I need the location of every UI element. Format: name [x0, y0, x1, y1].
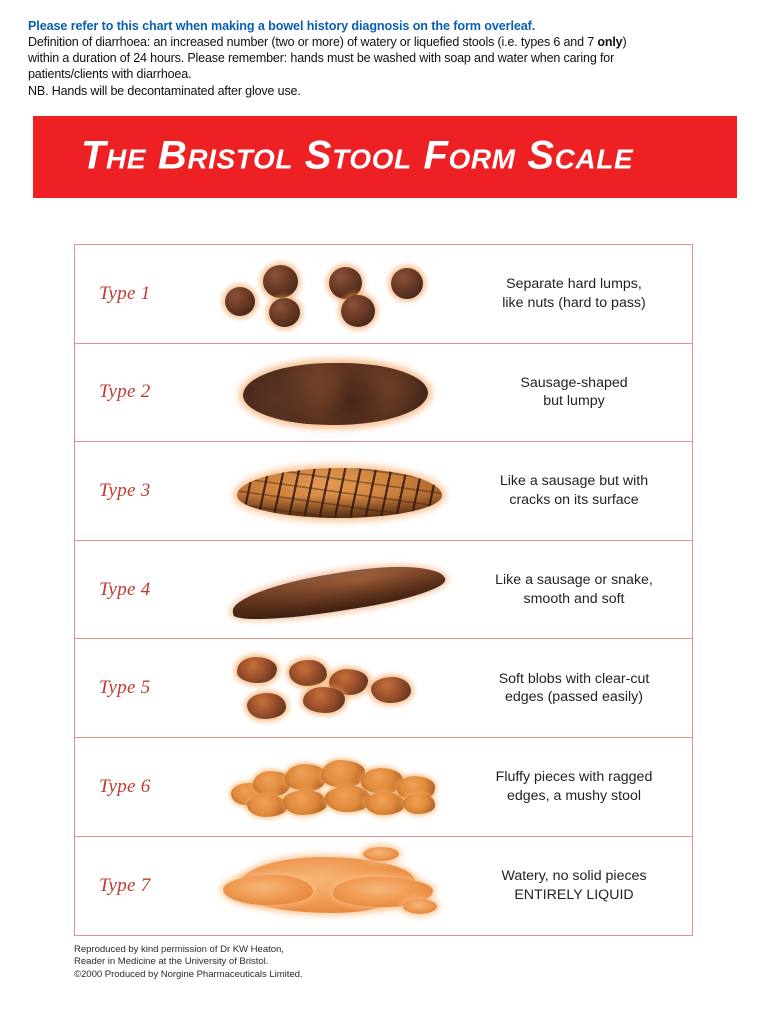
description-cell: Like a sausage but with cracks on its su…: [462, 472, 692, 509]
intro-line1-emphasis: only: [597, 35, 622, 49]
description-cell: Soft blobs with clear-cut edges (passed …: [462, 670, 692, 707]
stool-illustration-type-6: [203, 738, 462, 836]
description-cell: Like a sausage or snake, smooth and soft: [462, 571, 692, 608]
stool-illustration-type-7: [203, 837, 462, 936]
description-line-2: like nuts (hard to pass): [462, 294, 686, 313]
separate-hard-lumps-art: [203, 245, 462, 343]
stool-illustration-type-1: [203, 245, 462, 343]
banner-title-text: The Bristol Stool Form Scale: [81, 134, 633, 179]
stool-illustration-type-5: [203, 639, 462, 737]
table-row: Type 5 Soft blobs with clear-cut edges (…: [75, 639, 692, 738]
credit-line-3: ©2000 Produced by Norgine Pharmaceutical…: [74, 969, 303, 981]
table-row: Type 6 Fluffy pieces with ragged edges, …: [75, 738, 692, 837]
intro-paragraph-line-1: Definition of diarrhoea: an increased nu…: [28, 34, 744, 50]
credit-block: Reproduced by kind permission of Dr KW H…: [74, 944, 303, 981]
cracked-sausage-art: [203, 442, 462, 540]
table-row: Type 4 Like a sausage or snake, smooth a…: [75, 541, 692, 640]
description-cell: Separate hard lumps, like nuts (hard to …: [462, 275, 692, 312]
description-cell: Sausage-shaped but lumpy: [462, 374, 692, 411]
type-label: Type 4: [75, 579, 203, 601]
type-label: Type 7: [75, 875, 203, 897]
title-banner: The Bristol Stool Form Scale: [33, 116, 737, 198]
description-line-1: Watery, no solid pieces: [501, 868, 646, 884]
description-line-2: smooth and soft: [462, 590, 686, 609]
stool-illustration-type-3: [203, 442, 462, 540]
intro-line1-part-b: ): [622, 35, 626, 49]
table-row: Type 7 Watery, no solid pieces ENTIRELY …: [75, 837, 692, 936]
type-label: Type 6: [75, 776, 203, 798]
description-line-2: cracks on its surface: [462, 491, 686, 510]
intro-block: Please refer to this chart when making a…: [28, 18, 744, 99]
description-line-1: Separate hard lumps,: [506, 276, 642, 292]
description-line-2: ENTIRELY LIQUID: [462, 886, 686, 905]
smooth-snake-art: [203, 541, 462, 639]
intro-paragraph-line-3: patients/clients with diarrhoea.: [28, 66, 744, 82]
credit-line-1: Reproduced by kind permission of Dr KW H…: [74, 944, 303, 956]
description-line-1: Like a sausage or snake,: [495, 572, 653, 588]
type-label: Type 2: [75, 381, 203, 403]
description-line-1: Sausage-shaped: [520, 375, 627, 391]
type-label: Type 3: [75, 480, 203, 502]
stool-illustration-type-2: [203, 344, 462, 442]
intro-line1-part-a: Definition of diarrhoea: an increased nu…: [28, 35, 597, 49]
watery-liquid-art: [203, 837, 462, 936]
description-cell: Watery, no solid pieces ENTIRELY LIQUID: [462, 867, 692, 904]
intro-paragraph-line-2: within a duration of 24 hours. Please re…: [28, 50, 744, 66]
description-line-2: but lumpy: [462, 392, 686, 411]
lumpy-sausage-art: [203, 344, 462, 442]
intro-paragraph-line-4: NB. Hands will be decontaminated after g…: [28, 83, 744, 99]
stool-illustration-type-4: [203, 541, 462, 639]
description-line-2: edges (passed easily): [462, 688, 686, 707]
description-line-2: edges, a mushy stool: [462, 787, 686, 806]
credit-line-2: Reader in Medicine at the University of …: [74, 956, 303, 968]
fluffy-mush-art: [203, 738, 462, 836]
table-row: Type 1 Separate hard lumps, like nuts (h…: [75, 245, 692, 344]
table-row: Type 3 Like a sausage but with cracks on…: [75, 442, 692, 541]
intro-heading: Please refer to this chart when making a…: [28, 18, 744, 34]
description-line-1: Soft blobs with clear-cut: [499, 671, 650, 687]
soft-blobs-art: [203, 639, 462, 737]
type-label: Type 1: [75, 283, 203, 305]
description-line-1: Like a sausage but with: [500, 473, 648, 489]
description-line-1: Fluffy pieces with ragged: [496, 769, 653, 785]
table-row: Type 2 Sausage-shaped but lumpy: [75, 344, 692, 443]
bristol-stool-scale-table: Type 1 Separate hard lumps, like nuts (h…: [74, 244, 693, 936]
description-cell: Fluffy pieces with ragged edges, a mushy…: [462, 768, 692, 805]
type-label: Type 5: [75, 677, 203, 699]
